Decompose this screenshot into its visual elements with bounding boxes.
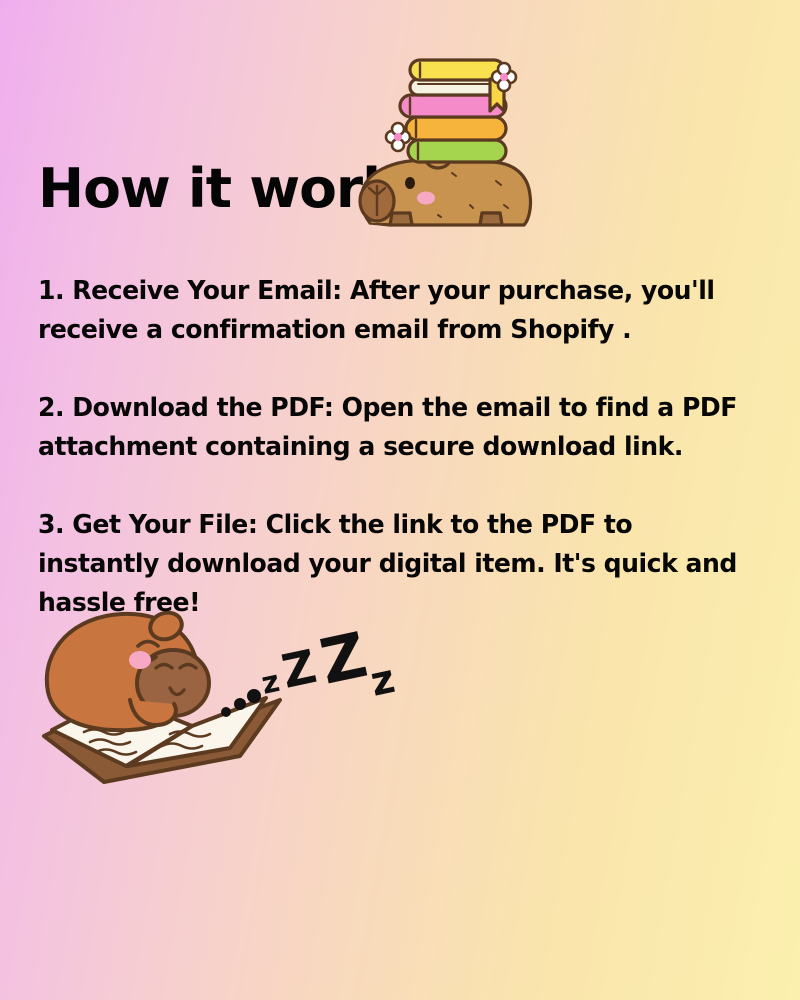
capybara-eye xyxy=(405,177,415,189)
book-green xyxy=(408,140,506,162)
poster-canvas: How it works xyxy=(0,0,800,1000)
sleeping-cheek xyxy=(129,651,151,669)
capybara-with-book-stack-illustration xyxy=(352,55,552,245)
step-item-3: 3. Get Your File: Click the link to the … xyxy=(38,506,753,623)
capybara-cheek xyxy=(417,192,435,205)
svg-text:Z: Z xyxy=(314,618,373,699)
zzz-letters: z Z Z z xyxy=(258,618,398,706)
book-yellow xyxy=(410,60,504,80)
capybara-back-foot xyxy=(480,213,502,225)
capybara-front-foot xyxy=(390,213,412,225)
svg-text:Z: Z xyxy=(277,639,321,699)
svg-text:z: z xyxy=(258,664,282,702)
svg-text:z: z xyxy=(367,656,399,706)
step-item-2: 2. Download the PDF: Open the email to f… xyxy=(38,389,753,467)
steps-list: 1. Receive Your Email: After your purcha… xyxy=(38,272,764,623)
step-item-1: 1. Receive Your Email: After your purcha… xyxy=(38,272,753,350)
capybara-books-svg xyxy=(352,55,552,245)
book-orange xyxy=(406,117,506,140)
